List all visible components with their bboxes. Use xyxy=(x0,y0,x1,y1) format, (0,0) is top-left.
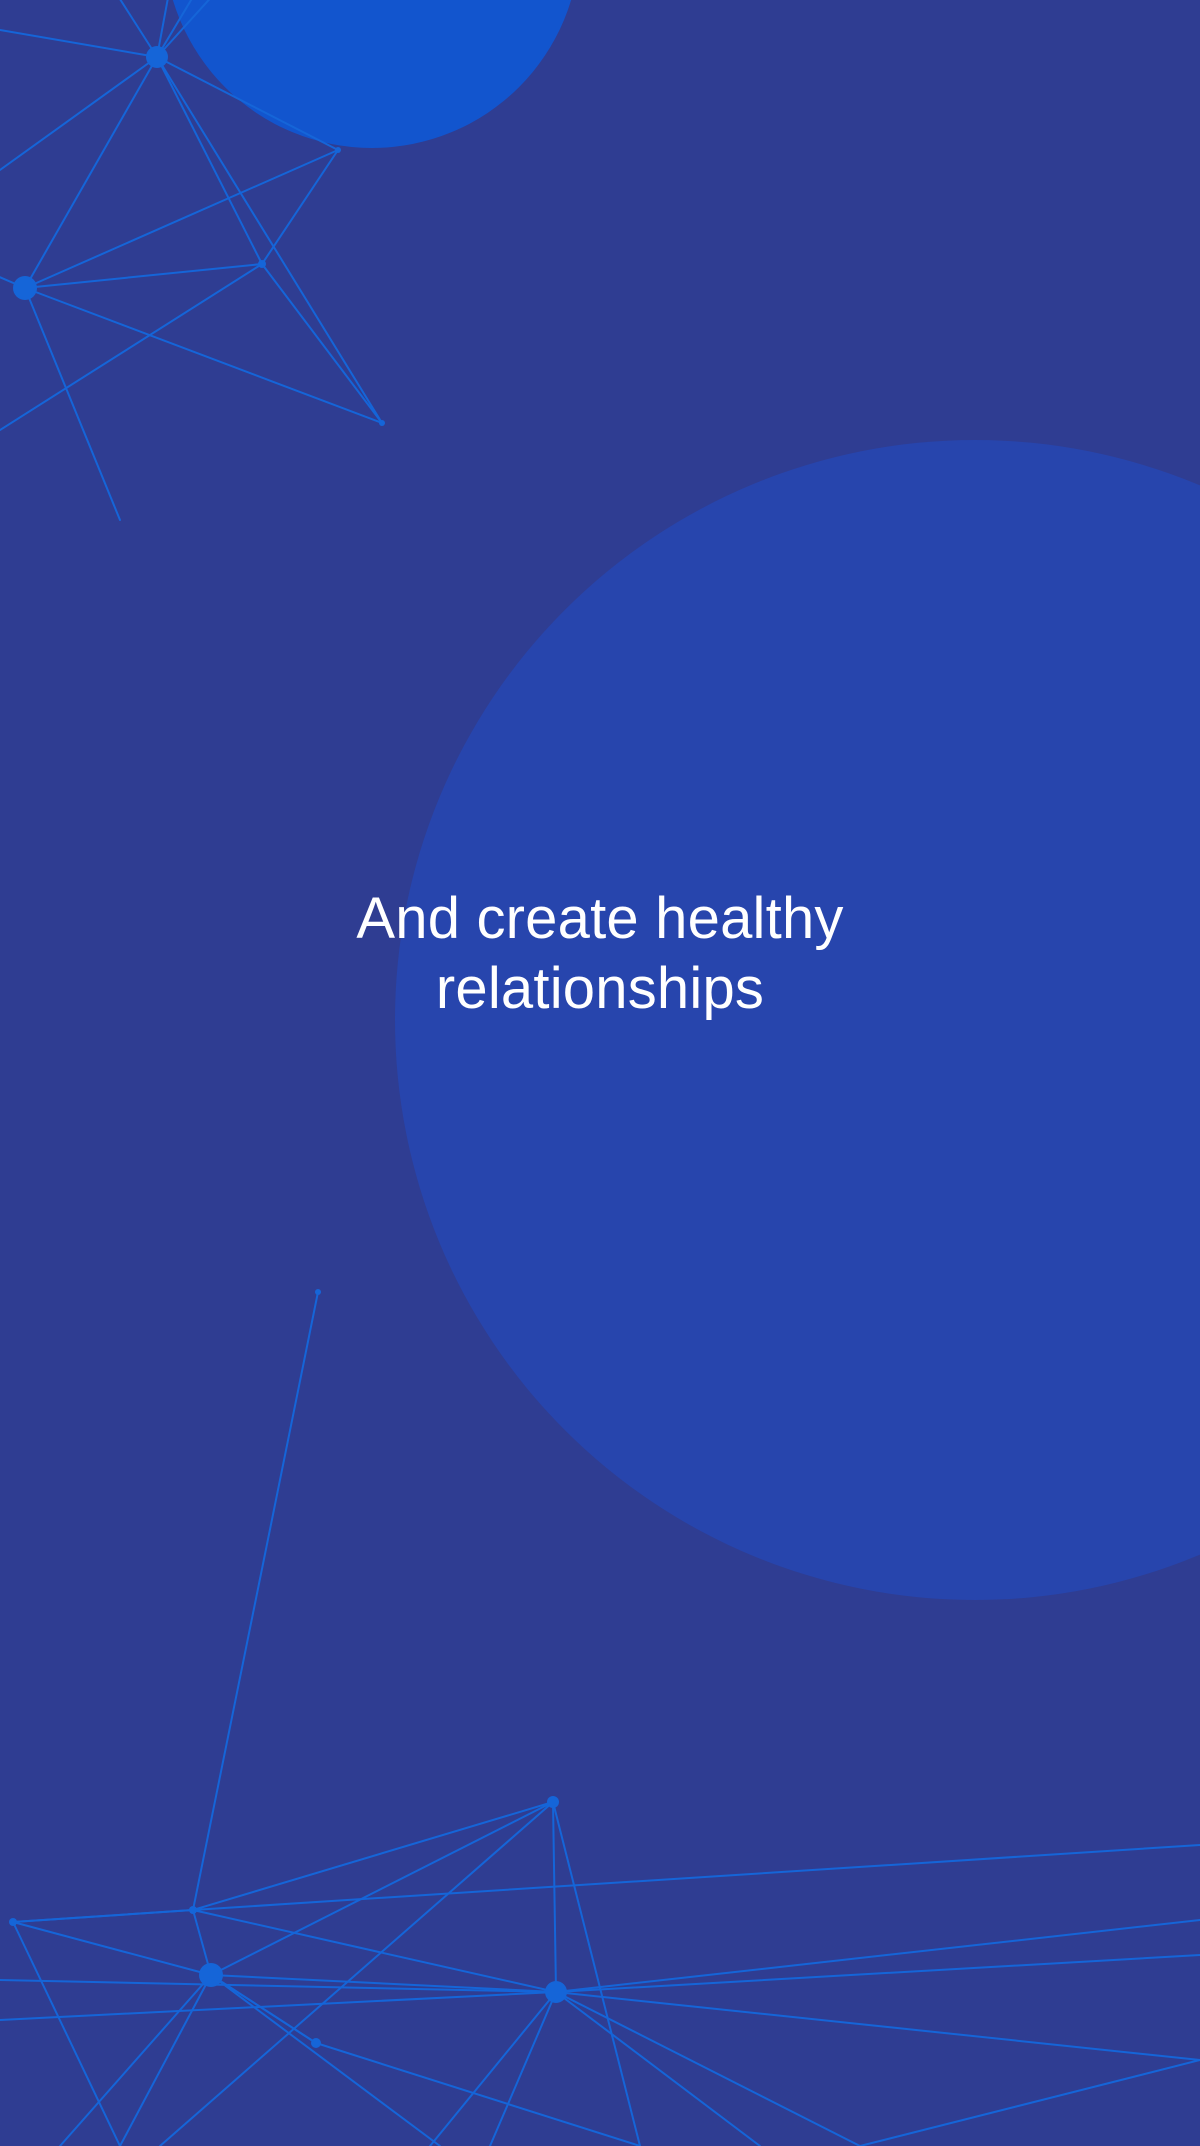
background-fill xyxy=(0,0,1200,2146)
onboarding-screen: And create healthy relationships xyxy=(0,0,1200,2146)
page-title-line-2: relationships xyxy=(0,960,1200,1018)
page-title: And create healthy relationships xyxy=(0,890,1200,1018)
page-title-line-1: And create healthy xyxy=(0,890,1200,948)
